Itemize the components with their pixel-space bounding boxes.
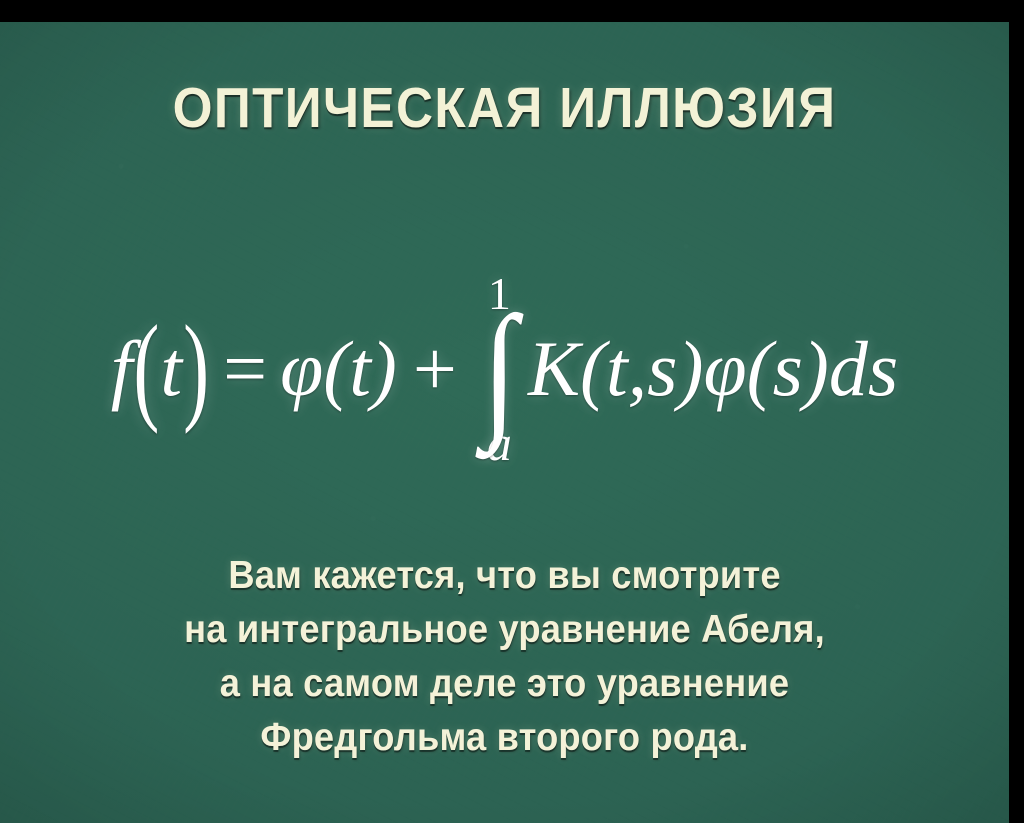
formula-lhs-open-paren: ( — [133, 307, 159, 428]
formula-plus-sign: + — [413, 330, 457, 408]
caption-line: Вам кажется, что вы смотрите — [35, 549, 973, 603]
letterbox-bar-right — [1009, 0, 1024, 823]
formula-integrand: K(t,s)φ(s)ds — [528, 330, 898, 408]
caption-line: а на самом деле это уравнение — [35, 657, 973, 711]
chalkboard-panel: ОПТИЧЕСКАЯ ИЛЛЮЗИЯ f ( t ) = φ(t) + 1 ∫ … — [0, 22, 1009, 823]
formula-equals-sign: = — [223, 330, 267, 408]
formula-lhs-close-paren: ) — [183, 307, 209, 428]
formula-phi-term: φ(t) — [280, 330, 397, 408]
formula-lhs-variable: t — [160, 330, 182, 408]
formula-lhs-function: f — [111, 330, 133, 408]
letterbox-bar-top — [0, 0, 1024, 22]
integral-sign-icon: ∫ — [482, 311, 517, 428]
math-formula: f ( t ) = φ(t) + 1 ∫ a K(t,s)φ(s)ds — [0, 244, 1009, 494]
caption-block: Вам кажется, что вы смотрите на интеграл… — [0, 549, 1009, 765]
meme-image: ОПТИЧЕСКАЯ ИЛЛЮЗИЯ f ( t ) = φ(t) + 1 ∫ … — [0, 0, 1024, 823]
page-title: ОПТИЧЕСКАЯ ИЛЛЮЗИЯ — [50, 80, 958, 137]
caption-line: Фредгольма второго рода. — [35, 711, 973, 765]
formula-expression: f ( t ) = φ(t) + 1 ∫ a K(t,s)φ(s)ds — [111, 271, 899, 468]
integral-operator: 1 ∫ a — [479, 271, 520, 468]
caption-line: на интегральное уравнение Абеля, — [35, 603, 973, 657]
